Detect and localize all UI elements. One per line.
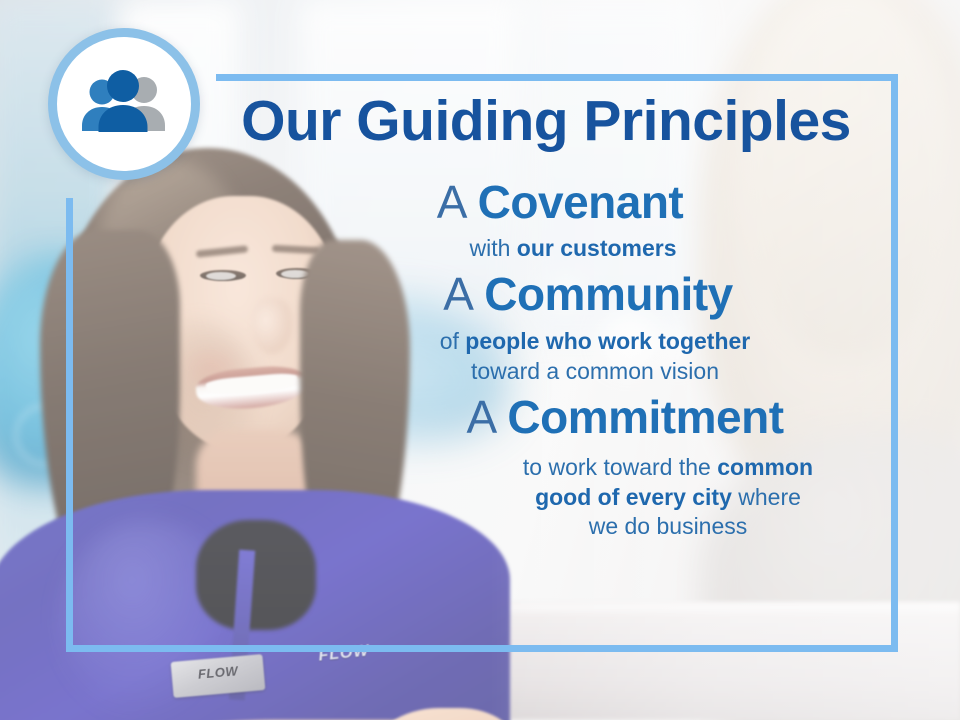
subtitle-segment-bold: our customers xyxy=(517,235,677,261)
subtitle-line: of people who work together xyxy=(306,327,884,357)
principle-title: A Community xyxy=(292,270,884,320)
subtitle-line: toward a common vision xyxy=(306,357,884,387)
subtitle-segment-bold: good of every city xyxy=(535,484,732,510)
principle-article: A xyxy=(466,391,494,443)
principle-subtitle: of people who work together toward a com… xyxy=(292,327,884,387)
principle-title: A Commitment xyxy=(366,393,884,443)
principle-keyword: Covenant xyxy=(478,176,684,228)
principle-commitment: A Commitment to work toward the common g… xyxy=(236,393,884,542)
subtitle-segment: we do business xyxy=(589,513,748,539)
poster: FLOW FLOW xyxy=(0,0,960,720)
principle-community: A Community of people who work together … xyxy=(236,270,884,387)
subtitle-segment: to work toward the xyxy=(523,454,717,480)
subtitle-line: we do business xyxy=(452,512,884,542)
subtitle-line: to work toward the common xyxy=(452,453,884,483)
subtitle-segment: where xyxy=(732,484,801,510)
subtitle-segment: toward a common vision xyxy=(471,358,719,384)
subtitle-segment-bold: people who work together xyxy=(465,328,750,354)
employee-eye-left-white xyxy=(206,272,236,280)
subtitle-segment: with xyxy=(469,235,516,261)
principle-article: A xyxy=(443,268,471,320)
page-title: Our Guiding Principles xyxy=(216,93,876,150)
principle-subtitle: with our customers xyxy=(236,234,884,264)
principles-list: A Covenant with our customers A Communit… xyxy=(236,178,884,548)
principle-article: A xyxy=(437,176,465,228)
subtitle-line: good of every city where xyxy=(452,483,884,513)
subtitle-segment: of xyxy=(440,328,466,354)
principle-covenant: A Covenant with our customers xyxy=(236,178,884,264)
group-of-people-icon xyxy=(76,69,172,139)
subtitle-line: with our customers xyxy=(262,234,884,264)
subtitle-segment-bold: common xyxy=(717,454,813,480)
people-badge xyxy=(48,28,200,180)
principle-subtitle: to work toward the common good of every … xyxy=(366,453,884,543)
principle-keyword: Community xyxy=(484,268,733,320)
principle-keyword: Commitment xyxy=(507,391,783,443)
principle-title: A Covenant xyxy=(236,178,884,228)
